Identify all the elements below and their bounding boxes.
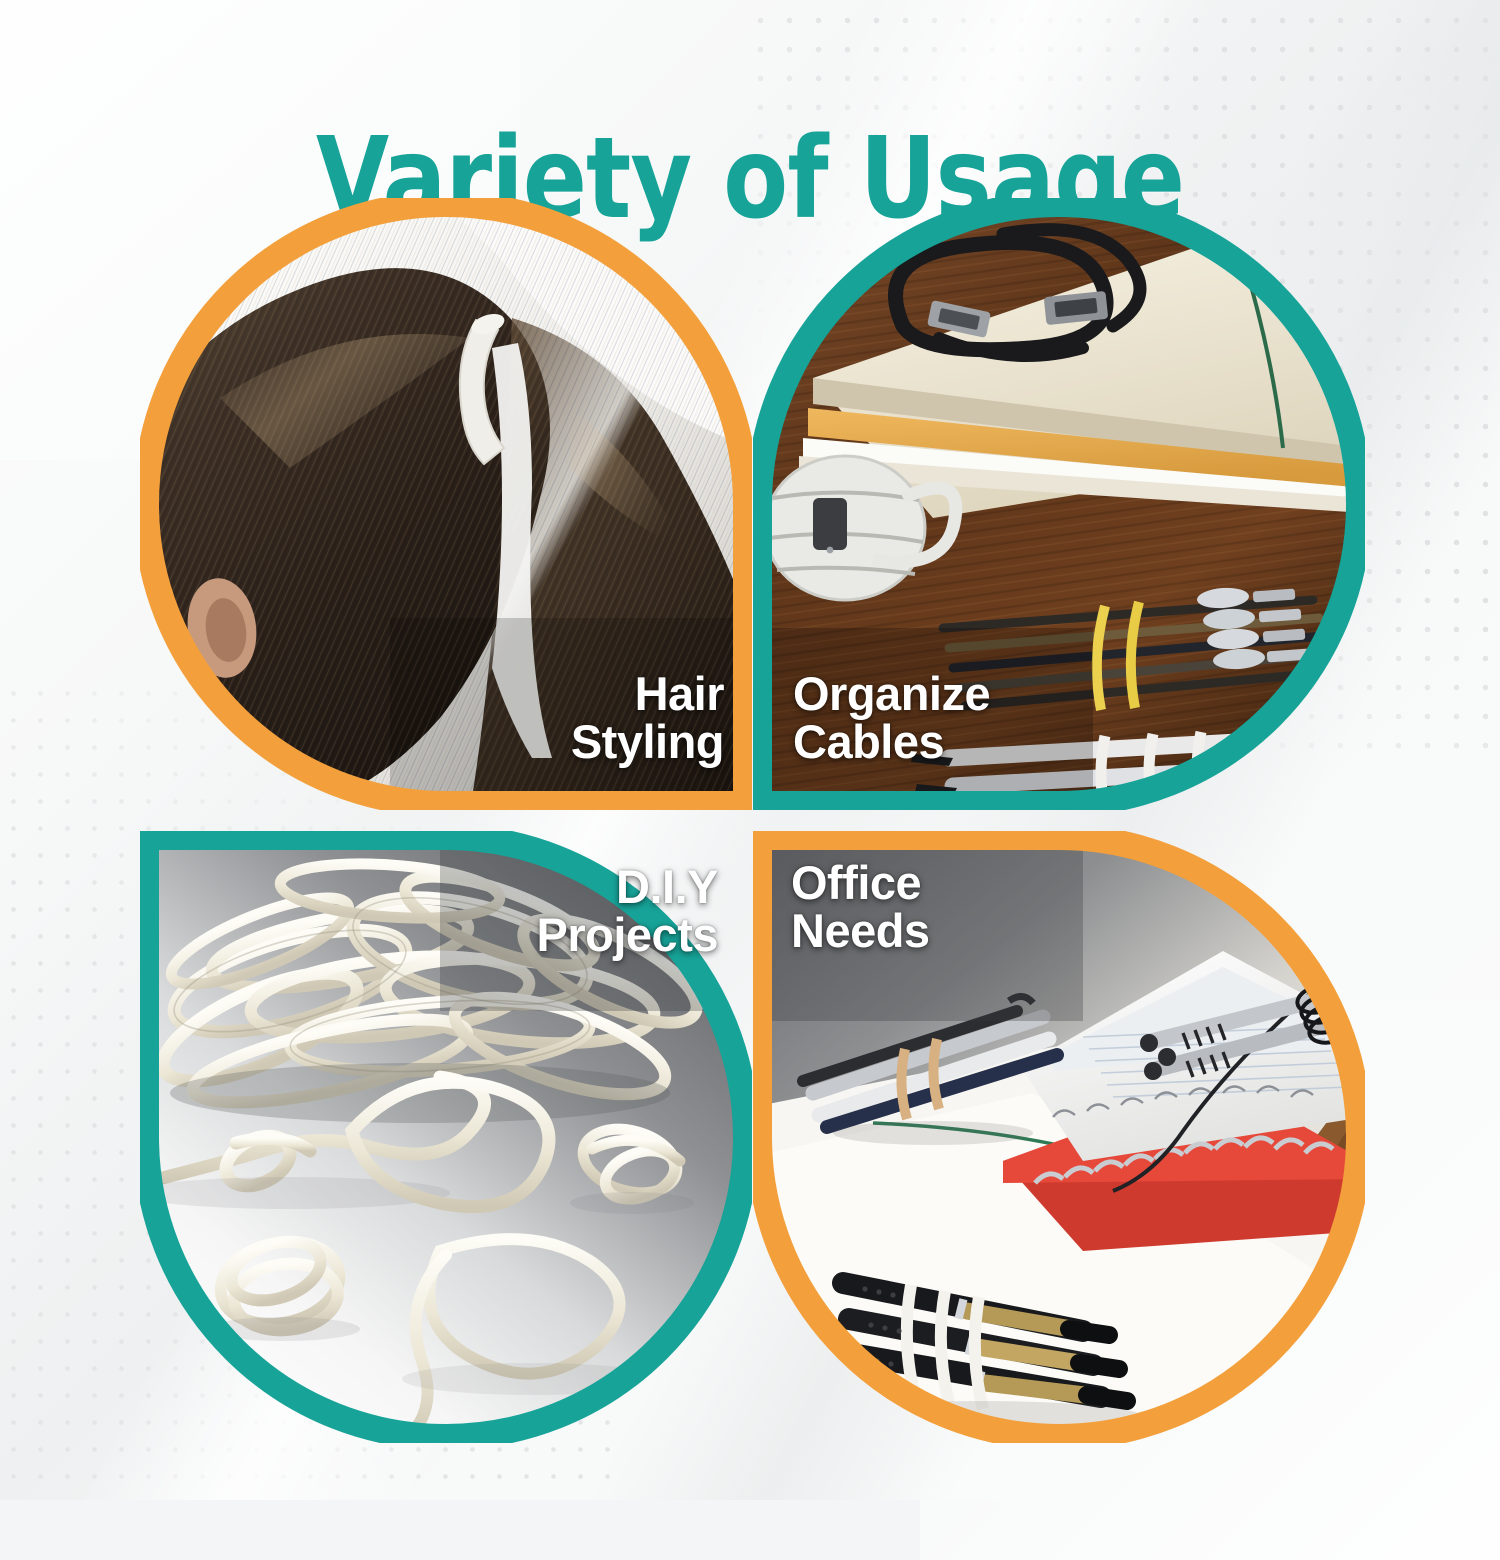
petal-diy-projects[interactable]: D.I.Y Projects <box>140 831 752 1443</box>
petal-office-needs[interactable]: Office Needs <box>753 831 1365 1443</box>
petal-organize-cables[interactable]: Organize Cables <box>753 198 1365 810</box>
petal-hair-styling[interactable]: Hair Styling <box>140 198 752 810</box>
usage-petal-grid: Hair Styling <box>140 198 1365 1443</box>
